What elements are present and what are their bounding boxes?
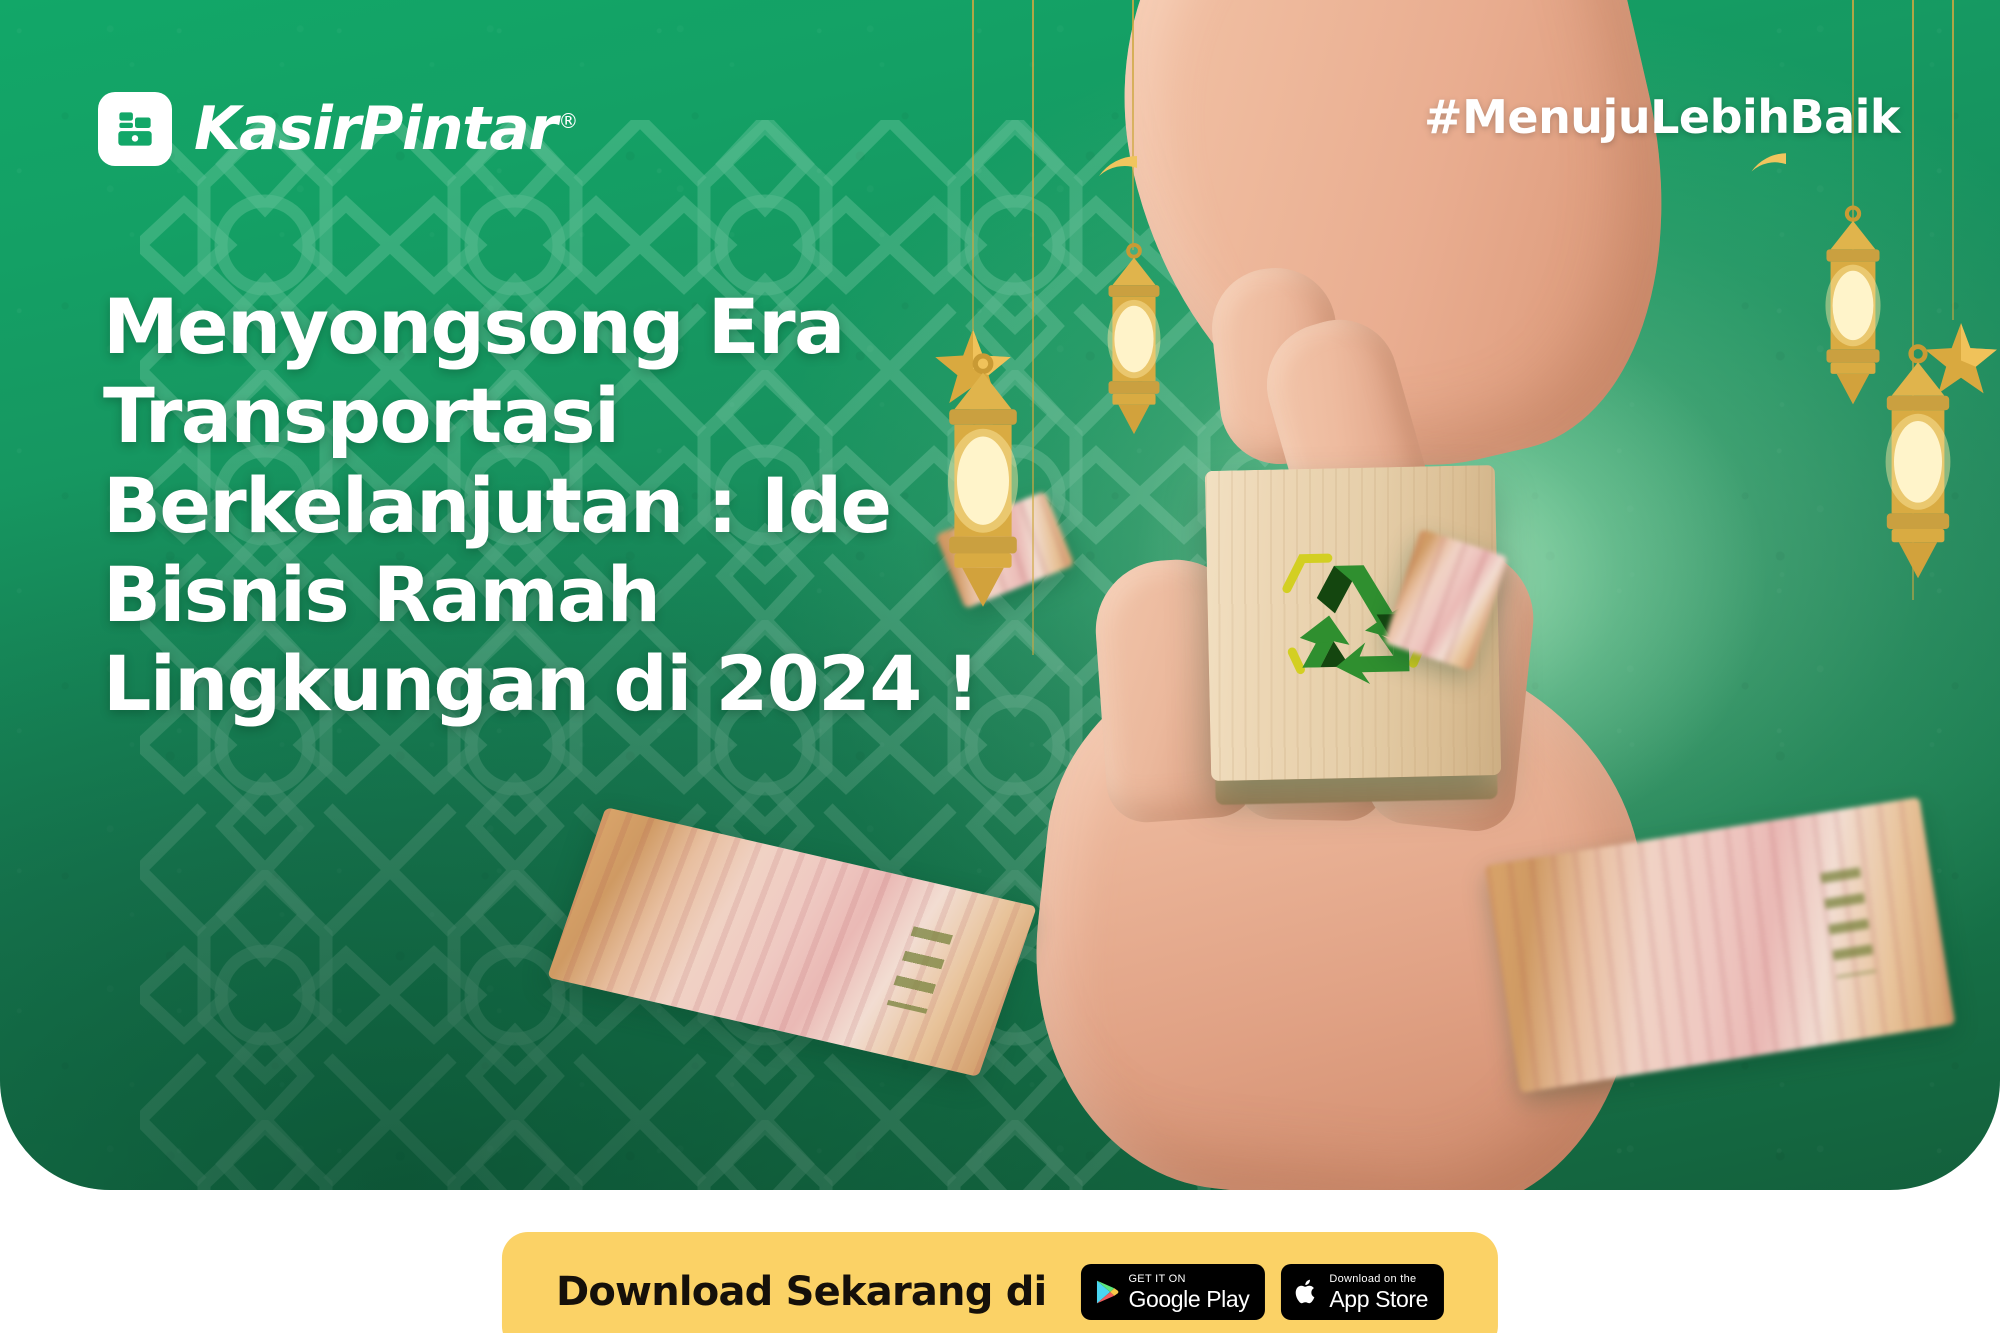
- google-play-icon: [1094, 1279, 1118, 1305]
- headline-line-5: Lingkungan di 2024 !: [103, 639, 983, 728]
- banknote-left-large: [547, 807, 1037, 1077]
- apple-icon: [1295, 1278, 1319, 1306]
- hero-panel: KasirPintar® #MenujuLebihBaik Menyongson…: [0, 0, 2000, 1190]
- google-play-badge-small-text: GET IT ON: [1128, 1274, 1249, 1285]
- hero-photo: [980, 0, 2000, 1190]
- download-cta-button[interactable]: Download Sekarang di GET IT ON Google Pl…: [502, 1232, 1498, 1333]
- app-store-badge[interactable]: Download on the App Store: [1281, 1264, 1444, 1320]
- google-play-badge[interactable]: GET IT ON Google Play: [1080, 1264, 1265, 1320]
- cash-register-glyph: [110, 104, 160, 154]
- headline-line-4: Bisnis Ramah: [103, 550, 983, 639]
- app-store-badge-title: App Store: [1329, 1288, 1428, 1311]
- headline-line-3: Berkelanjutan : Ide: [103, 461, 983, 550]
- campaign-hashtag: #MenujuLebihBaik: [1424, 90, 1900, 144]
- app-store-badge-small-text: Download on the: [1329, 1274, 1428, 1285]
- headline: Menyongsong Era Transportasi Berkelanjut…: [103, 282, 983, 728]
- trademark-symbol: ®: [558, 109, 577, 133]
- download-cta-label: Download Sekarang di: [556, 1269, 1047, 1315]
- brand-wordmark: KasirPintar®: [194, 99, 577, 159]
- brand-logo[interactable]: KasirPintar®: [98, 92, 577, 166]
- headline-line-2: Transportasi: [103, 371, 983, 460]
- google-play-badge-title: Google Play: [1128, 1288, 1249, 1311]
- cash-register-icon: [98, 92, 172, 166]
- brand-name: KasirPintar: [194, 94, 556, 164]
- store-badges: GET IT ON Google Play Download on the Ap…: [1080, 1264, 1444, 1320]
- headline-line-1: Menyongsong Era: [103, 282, 983, 371]
- banner-canvas: KasirPintar® #MenujuLebihBaik Menyongson…: [0, 0, 2000, 1333]
